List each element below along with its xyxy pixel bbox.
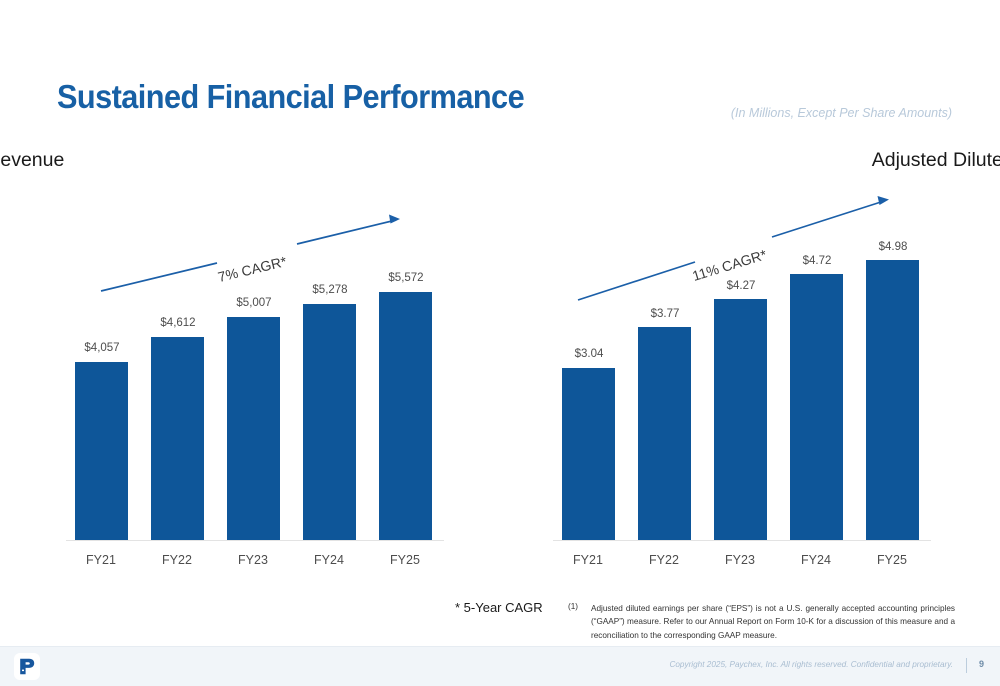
tick-fy21-revenue: FY21 <box>66 553 136 567</box>
tick-fy23-revenue: FY23 <box>218 553 288 567</box>
bar-fy23-revenue <box>227 317 280 540</box>
plot-area-revenue: 7% CAGR* $4,057 $4,612 $5,007 $5,278 $5,… <box>0 0 500 585</box>
bar-value-fy22-revenue: $4,612 <box>143 317 213 329</box>
bar-fy22-eps <box>638 327 691 540</box>
bar-fy21-revenue <box>75 362 128 540</box>
tick-fy22-eps: FY22 <box>629 553 699 567</box>
tick-fy25-revenue: FY25 <box>370 553 440 567</box>
bar-value-fy21-eps: $3.04 <box>554 348 624 360</box>
bar-fy24-revenue <box>303 304 356 540</box>
footnote-marker: (1) <box>568 602 578 611</box>
tick-fy23-eps: FY23 <box>705 553 775 567</box>
bar-fy23-eps <box>714 299 767 540</box>
bar-value-fy22-eps: $3.77 <box>630 308 700 320</box>
bar-fy24-eps <box>790 274 843 540</box>
footer-bar: Copyright 2025, Paychex, Inc. All rights… <box>0 646 1000 686</box>
bar-value-fy25-eps: $4.98 <box>858 241 928 253</box>
paychex-p-logo-icon <box>14 653 40 680</box>
bar-value-fy23-eps: $4.27 <box>706 280 776 292</box>
bar-value-fy24-revenue: $5,278 <box>295 284 365 296</box>
footnote-cagr: * 5-Year CAGR <box>455 600 543 615</box>
tick-fy21-eps: FY21 <box>553 553 623 567</box>
tick-fy24-revenue: FY24 <box>294 553 364 567</box>
chart-total-revenue: Total Revenue 7% CAGR* $4,057 $4,612 $5,… <box>0 0 500 585</box>
x-axis-line-revenue <box>66 540 444 541</box>
tick-fy25-eps: FY25 <box>857 553 927 567</box>
bar-fy25-revenue <box>379 292 432 540</box>
footer-page-number: 9 <box>979 659 984 669</box>
chart-adjusted-diluted-eps: Adjusted Diluted EPS(1) 11% CAGR* $3.04 … <box>500 0 1000 585</box>
bar-fy25-eps <box>866 260 919 540</box>
bar-fy22-revenue <box>151 337 204 540</box>
bar-fy21-eps <box>562 368 615 540</box>
footer-divider <box>966 658 967 673</box>
x-axis-line-eps <box>553 540 931 541</box>
footnote-eps-text: Adjusted diluted earnings per share (“EP… <box>591 602 955 642</box>
bar-value-fy25-revenue: $5,572 <box>371 272 441 284</box>
tick-fy22-revenue: FY22 <box>142 553 212 567</box>
tick-fy24-eps: FY24 <box>781 553 851 567</box>
slide: Sustained Financial Performance (In Mill… <box>0 0 1000 685</box>
bar-value-fy23-revenue: $5,007 <box>219 297 289 309</box>
footer-copyright: Copyright 2025, Paychex, Inc. All rights… <box>669 660 953 669</box>
bar-value-fy24-eps: $4.72 <box>782 255 852 267</box>
bar-value-fy21-revenue: $4,057 <box>67 342 137 354</box>
paychex-p-glyph-icon <box>19 658 35 675</box>
plot-area-eps: 11% CAGR* $3.04 $3.77 $4.27 $4.72 $4.98 … <box>500 0 1000 585</box>
